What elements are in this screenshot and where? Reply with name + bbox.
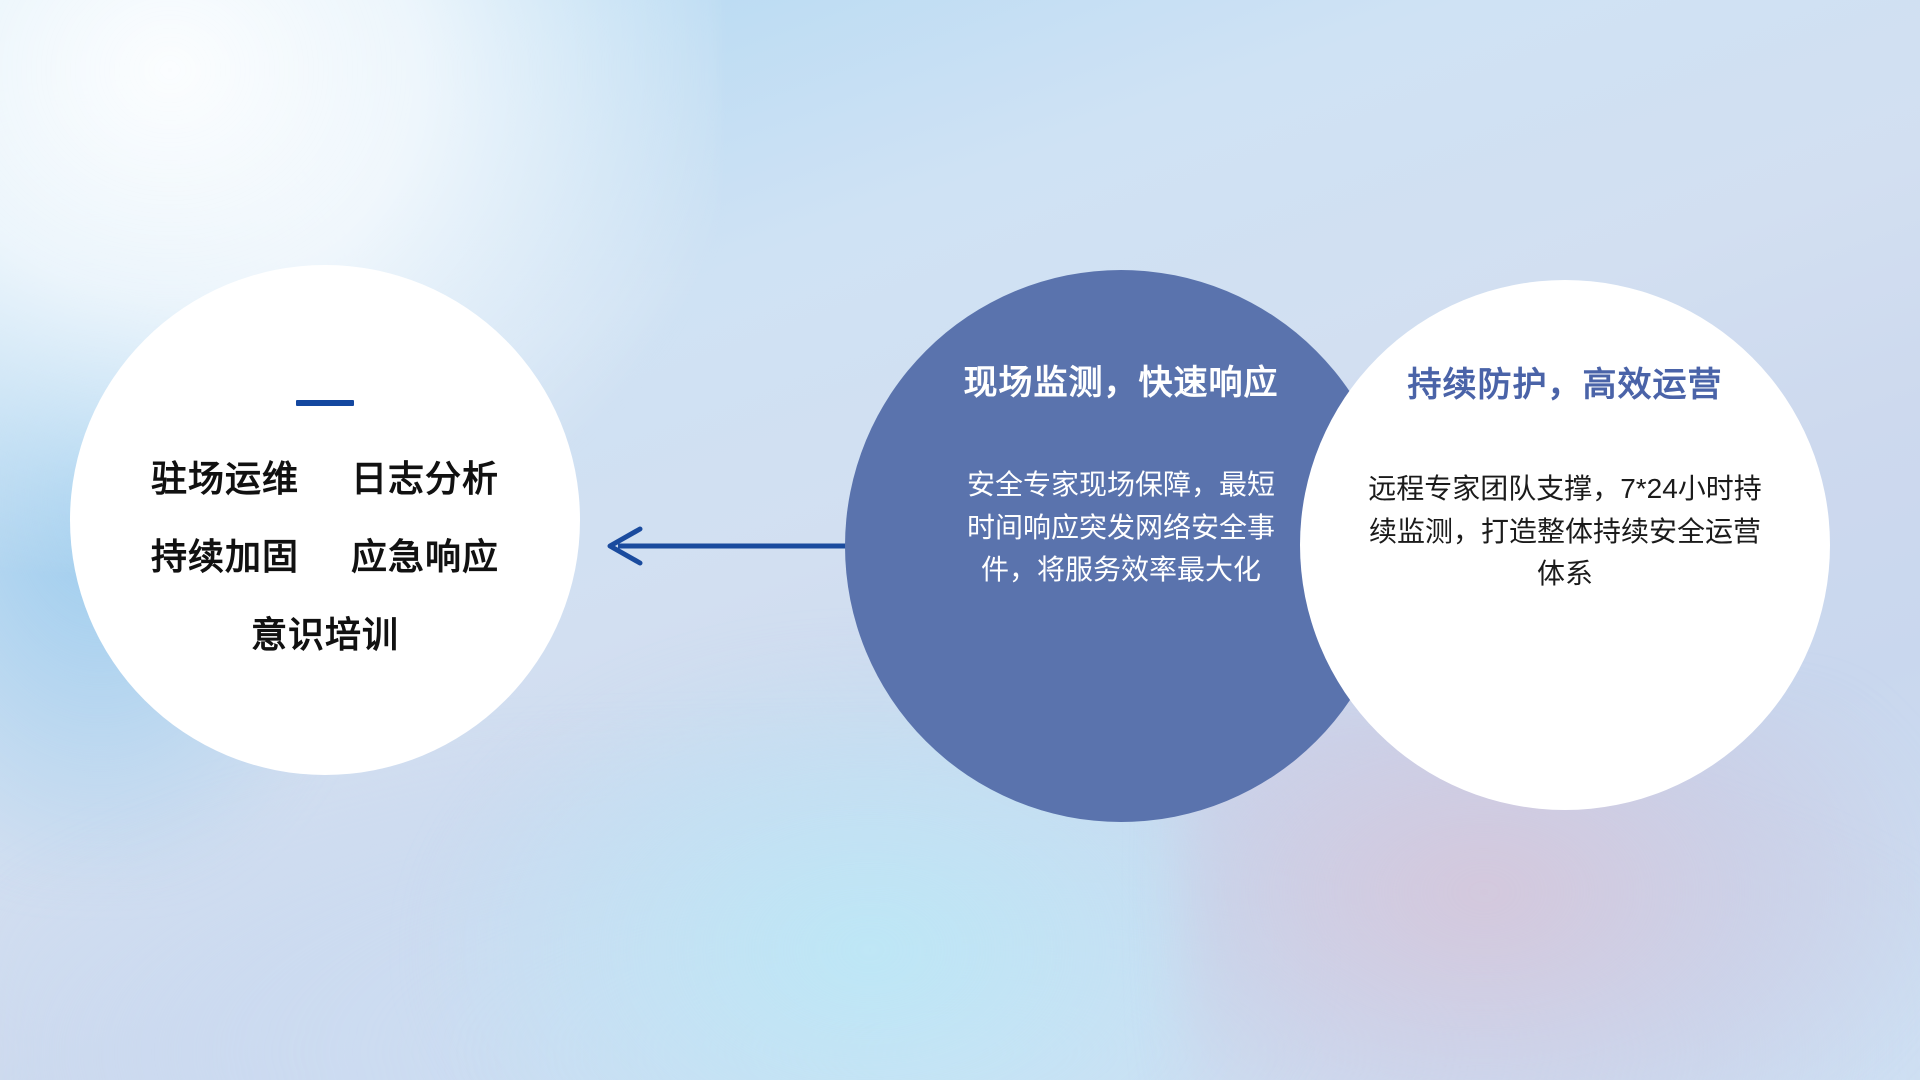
capability-label: 意识培训 (251, 614, 399, 655)
capability-label: 持续加固 (151, 536, 299, 577)
continuous-protection-body: 远程专家团队支撑，7*24小时持续监测，打造整体持续安全运营体系 (1359, 468, 1771, 596)
capability-label: 日志分析 (351, 458, 499, 499)
slide-canvas: 驻场运维 日志分析 持续加固 应急响应 意识培训 现场监测，快速响应 安全专家现… (0, 0, 1920, 1080)
onsite-monitoring-body: 安全专家现场保障，最短时间响应突发网络安全事件，将服务效率最大化 (965, 464, 1277, 592)
capability-row-2: 持续加固 应急响应 (151, 538, 499, 576)
arrow-left-icon (596, 520, 881, 572)
onsite-monitoring-title: 现场监测，快速响应 (964, 355, 1279, 404)
capability-row-3: 意识培训 (251, 616, 399, 654)
capabilities-content: 驻场运维 日志分析 持续加固 应急响应 意识培训 (70, 265, 580, 775)
capability-row-1: 驻场运维 日志分析 (151, 460, 499, 498)
continuous-protection-circle[interactable]: 持续防护，高效运营 远程专家团队支撑，7*24小时持续监测，打造整体持续安全运营… (1300, 280, 1830, 810)
horizontal-dash-icon (296, 400, 354, 406)
continuous-protection-title: 持续防护，高效运营 (1408, 357, 1723, 406)
capability-label: 应急响应 (351, 536, 499, 577)
capabilities-circle[interactable]: 驻场运维 日志分析 持续加固 应急响应 意识培训 (70, 265, 580, 775)
continuous-protection-content: 持续防护，高效运营 远程专家团队支撑，7*24小时持续监测，打造整体持续安全运营… (1300, 280, 1830, 810)
capability-label: 驻场运维 (151, 458, 299, 499)
